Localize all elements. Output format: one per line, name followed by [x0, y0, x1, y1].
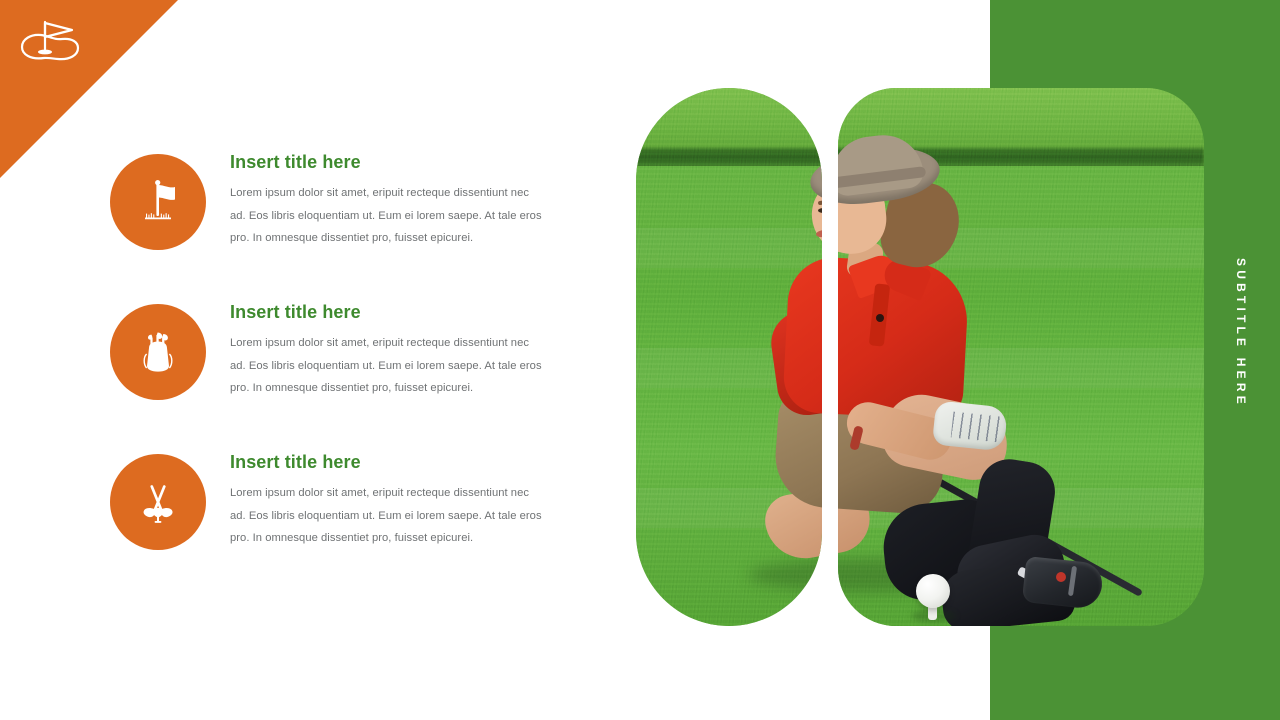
- golf-course-photo-continued: [838, 88, 1204, 626]
- photo-collage: [636, 88, 1204, 626]
- feature-title-3: Insert title here: [230, 452, 546, 473]
- feature-title-1: Insert title here: [230, 152, 546, 173]
- golf-green-flag-logo: [14, 14, 84, 76]
- feature-text-1: Insert title here Lorem ipsum dolor sit …: [230, 148, 546, 250]
- feature-body-2: Lorem ipsum dolor sit amet, eripuit rect…: [230, 332, 546, 400]
- feature-text-2: Insert title here Lorem ipsum dolor sit …: [230, 298, 546, 400]
- feature-body-1: Lorem ipsum dolor sit amet, eripuit rect…: [230, 182, 546, 250]
- feature-item-1[interactable]: Insert title here Lorem ipsum dolor sit …: [110, 148, 580, 250]
- golf-flag-on-green-icon: [110, 154, 206, 250]
- photo-panel-right: [838, 88, 1204, 626]
- slide: SUBTITLE HERE: [0, 0, 1280, 720]
- golf-bag-icon: [110, 304, 206, 400]
- golf-course-photo: [636, 88, 822, 626]
- feature-list: Insert title here Lorem ipsum dolor sit …: [110, 148, 580, 550]
- feature-text-3: Insert title here Lorem ipsum dolor sit …: [230, 448, 546, 550]
- feature-title-2: Insert title here: [230, 302, 546, 323]
- feature-item-3[interactable]: Insert title here Lorem ipsum dolor sit …: [110, 448, 580, 550]
- crossed-golf-clubs-icon: [110, 454, 206, 550]
- feature-body-3: Lorem ipsum dolor sit amet, eripuit rect…: [230, 482, 546, 550]
- feature-item-2[interactable]: Insert title here Lorem ipsum dolor sit …: [110, 298, 580, 400]
- subtitle-vertical-label: SUBTITLE HERE: [1228, 258, 1254, 408]
- photo-panel-left: [636, 88, 822, 626]
